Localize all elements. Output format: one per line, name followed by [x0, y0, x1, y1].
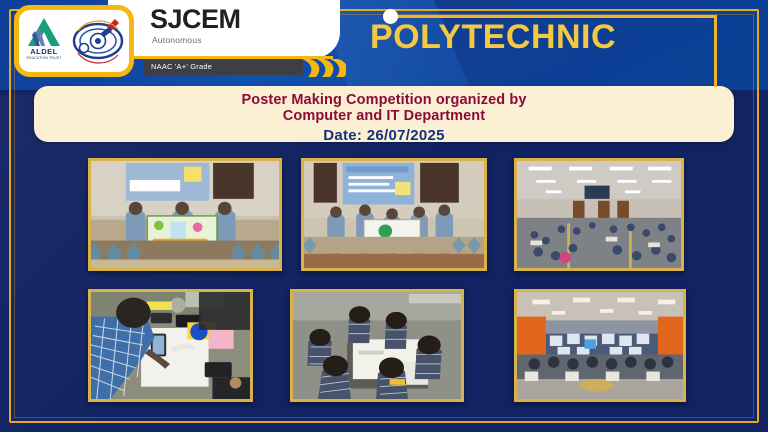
- gallery-photo-3[interactable]: [514, 158, 684, 271]
- gallery-photo-1[interactable]: [88, 158, 282, 271]
- accreditation-bar: NAAC 'A+' Grade: [143, 59, 303, 75]
- event-title-banner: Poster Making Competition organized by C…: [34, 86, 734, 142]
- aldel-subtitle: EDUCATION TRUST: [21, 56, 67, 60]
- institute-subtitle: Autonomous: [152, 35, 202, 45]
- event-title-line1: Poster Making Competition organized by: [34, 86, 734, 108]
- presentation-slide: POLYTECHNIC SJCEM Autonomous NAAC 'A+' G…: [0, 0, 768, 432]
- polytechnic-rule-vertical: [714, 15, 717, 87]
- institute-name: SJCEM: [150, 6, 241, 33]
- event-date: Date: 26/07/2025: [34, 124, 734, 144]
- accreditation-label: NAAC 'A+' Grade: [151, 62, 212, 71]
- aldel-name: ALDEL: [21, 47, 67, 56]
- institution-logo-card: ALDEL EDUCATION TRUST: [14, 5, 134, 77]
- page-title: POLYTECHNIC: [370, 20, 700, 54]
- aldel-triangle-logo-icon: [27, 17, 61, 47]
- aldel-logo: ALDEL EDUCATION TRUST: [21, 15, 67, 67]
- event-title-line2: Computer and IT Department: [34, 108, 734, 124]
- gallery-photo-6[interactable]: [514, 289, 686, 402]
- gallery-photo-4[interactable]: [88, 289, 253, 402]
- gallery-photo-2[interactable]: [301, 158, 487, 271]
- photo-gallery: [88, 158, 684, 403]
- sjcem-crest-icon: [71, 13, 127, 69]
- institute-name-plate: SJCEM Autonomous: [108, 0, 340, 58]
- swoosh-decoration-icon: [300, 57, 346, 79]
- gallery-photo-5[interactable]: [290, 289, 464, 402]
